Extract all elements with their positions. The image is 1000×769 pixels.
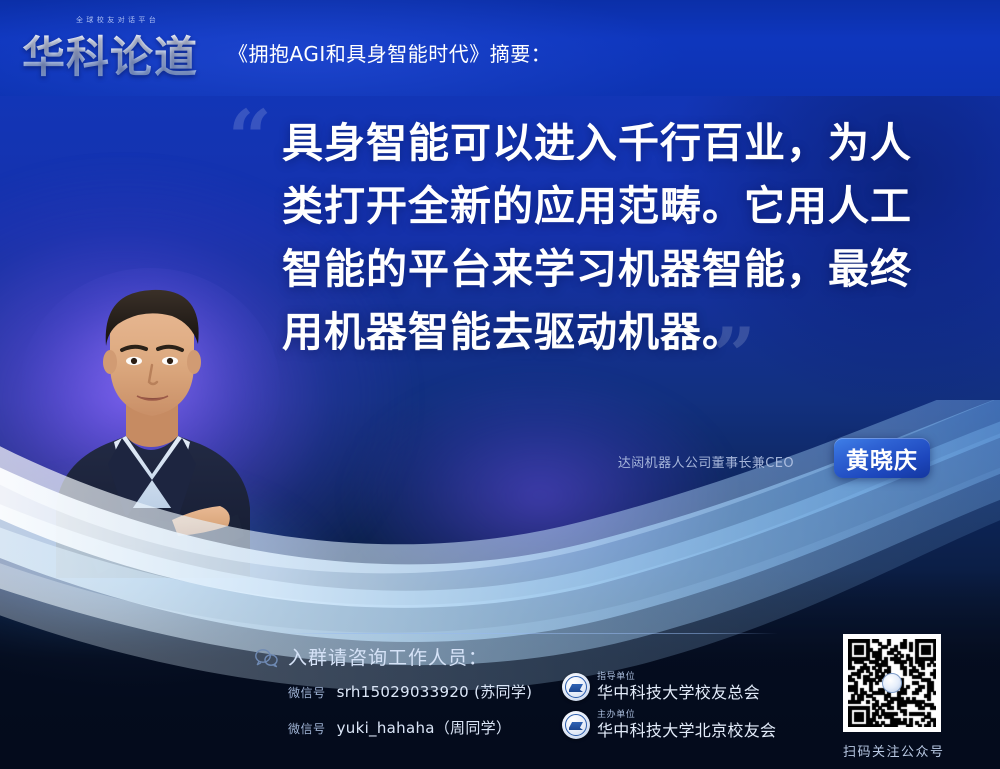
university-seal-icon [562,673,590,701]
qr-center-logo-icon [882,673,902,693]
organization-row: 指导单位 华中科技大学校友总会 [562,672,760,702]
footer-title: 入群请咨询工作人员： [288,643,488,670]
organization-name: 华中科技大学北京校友会 [597,721,776,740]
speaker-role: 达闼机器人公司董事长兼CEO [618,452,794,471]
university-seal-icon [562,711,590,739]
organization-name: 华中科技大学校友总会 [597,683,760,702]
qr-code[interactable] [843,634,941,732]
wechat-icon [255,648,279,668]
quote-line: 具身智能可以进入千行百业，为人 [282,112,942,175]
quote-line: 用机器智能去驱动机器。 [282,301,942,364]
attribution: 达闼机器人公司董事长兼CEO 黄晓庆 [600,444,930,484]
contact-row: 微信号 srh15029033920 (苏同学) [288,681,532,702]
quote-line: 智能的平台来学习机器智能，最终 [282,238,942,301]
poster-canvas: 全球校友对话平台 华科论道 《拥抱AGI和具身智能时代》摘要： “ ” 具身智能… [0,0,1000,769]
qr-section: 扫码关注公众号 [843,634,945,760]
organization-kind: 指导单位 [597,672,760,683]
contact-label: 微信号 [288,722,326,736]
contact-value[interactable]: yuki_hahaha（周同学） [337,719,512,737]
footer-divider [282,633,778,634]
logo-wordmark: 华科论道 [22,23,198,85]
header-subtitle: 《拥抱AGI和具身智能时代》摘要： [228,38,551,67]
brand-logo[interactable]: 全球校友对话平台 华科论道 [22,14,218,76]
quote-text: 具身智能可以进入千行百业，为人 类打开全新的应用范畴。它用人工 智能的平台来学习… [282,112,942,364]
qr-caption: 扫码关注公众号 [843,741,945,760]
quote-line: 类打开全新的应用范畴。它用人工 [282,175,942,238]
speaker-name-badge: 黄晓庆 [834,438,930,478]
quote-open-mark: “ [228,100,272,176]
organization-row: 主办单位 华中科技大学北京校友会 [562,710,776,740]
contact-row: 微信号 yuki_hahaha（周同学） [288,717,511,738]
contact-value[interactable]: srh15029033920 (苏同学) [337,683,533,701]
organization-kind: 主办单位 [597,710,776,721]
contact-label: 微信号 [288,686,326,700]
